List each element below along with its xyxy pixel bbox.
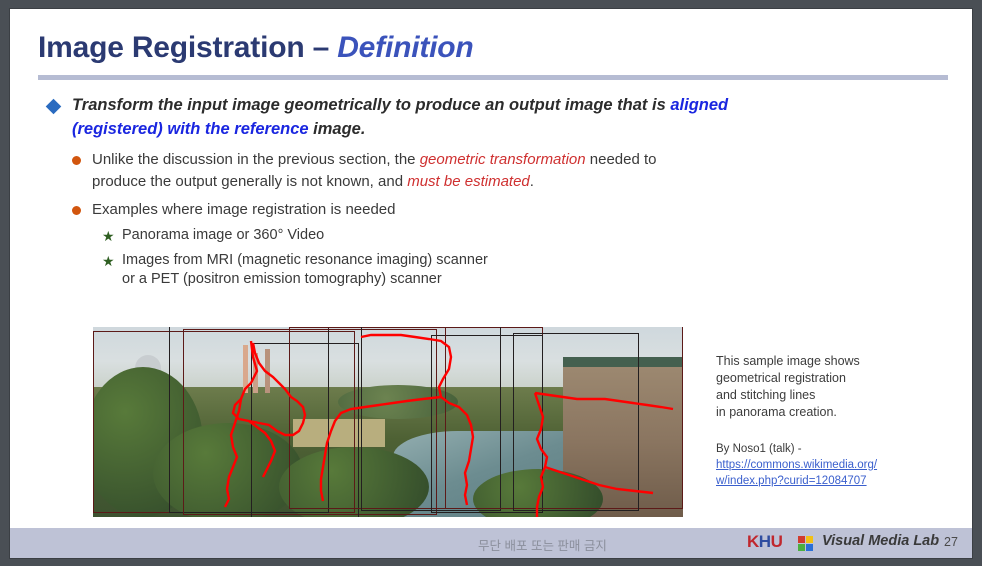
credit-link-line-2[interactable]: w/index.php?curid=12084707 [716,473,966,489]
slide-canvas: Image Registration – Definition Transfor… [10,9,972,558]
logo-quadrant-blue [806,544,813,551]
medical-line-1: Images from MRI (magnetic resonance imag… [122,251,702,270]
caption-line-1: This sample image shows [716,353,956,370]
figure-credit: By Noso1 (talk) - https://commons.wikime… [716,441,966,489]
credit-author: By Noso1 (talk) - [716,441,966,457]
lab-logo-icon [798,536,813,551]
dot-bullet-icon [72,156,81,165]
bullet-level3-text-panorama: Panorama image or 360° Video [122,226,702,245]
panorama-image [93,327,683,517]
bullet-level2-examples: Examples where image registration is nee… [72,199,712,221]
bullet-level1: Transform the input image geometrically … [40,93,740,141]
bullet-level1-part1: Transform the input image geometrically … [72,96,670,114]
bullet-level3-text-medical: Images from MRI (magnetic resonance imag… [122,251,702,289]
caption-line-4: in panorama creation. [716,404,956,421]
page-title: Image Registration – Definition [38,31,474,65]
medical-line-2: or a PET (positron emission tomography) … [122,270,702,289]
logo-quadrant-yellow [806,536,813,543]
caption-line-2: geometrical registration [716,370,956,387]
khu-letter-u: U [771,532,783,551]
slide-footer: 무단 배포 또는 판매 금지 KHU Visual Media Lab 27 [10,528,972,558]
panorama-figure [93,327,683,517]
bullet-level3-medical: ★ Images from MRI (magnetic resonance im… [102,251,702,289]
logo-quadrant-green [798,544,805,551]
bullet-level2-text-b: Examples where image registration is nee… [92,199,712,221]
title-emphasis-text: Definition [337,31,473,64]
khu-letter-h: H [759,532,771,551]
bullet-level2-transformation: Unlike the discussion in the previous se… [72,149,712,193]
star-bullet-icon: ★ [102,254,115,268]
l2a-red2: must be estimated [407,173,530,190]
bullet-level1-text: Transform the input image geometrically … [72,93,740,141]
bullet-level1-part2: image. [309,120,366,138]
diamond-bullet-icon [46,99,62,115]
page-number: 27 [944,535,958,549]
khu-logo: KHU [747,532,782,552]
bullet-level3-panorama: ★ Panorama image or 360° Video [102,226,702,245]
lab-name: Visual Media Lab [822,533,939,549]
bullet-level2-text-a: Unlike the discussion in the previous se… [92,149,712,193]
l2a-part1: Unlike the discussion in the previous se… [92,151,420,168]
khu-letter-k: K [747,532,759,551]
caption-line-3: and stitching lines [716,387,956,404]
stitching-seams [93,327,683,517]
title-main-text: Image Registration – [38,31,337,64]
l2a-part3: . [530,173,534,190]
figure-caption: This sample image shows geometrical regi… [716,353,956,421]
l2a-red1: geometric transformation [420,151,586,168]
copyright-notice: 무단 배포 또는 판매 금지 [478,535,607,554]
dot-bullet-icon [72,206,81,215]
credit-link-line-1[interactable]: https://commons.wikimedia.org/ [716,457,966,473]
logo-quadrant-red [798,536,805,543]
star-bullet-icon: ★ [102,229,115,243]
title-divider [38,75,948,80]
